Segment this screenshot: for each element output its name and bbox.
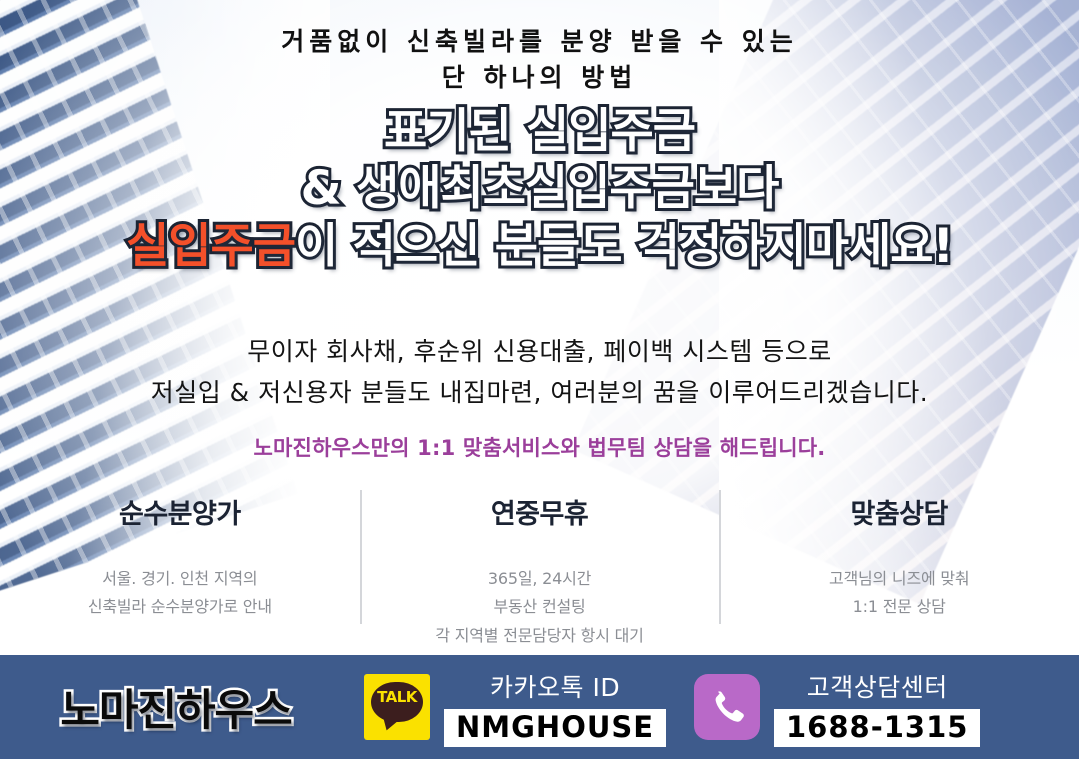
kakao-contact-block[interactable]: TALK 카카오톡 ID NMGHOUSE (352, 668, 672, 747)
feature-column-pure-price: 순수분양가 서울. 경기. 인천 지역의 신축빌라 순수분양가로 안내 (0, 486, 360, 636)
kakaotalk-icon[interactable]: TALK (364, 674, 430, 740)
hero-line-3-rest: 이 적으신 분들도 걱정하지마세요! (295, 219, 953, 274)
feature-description: 고객님의 니즈에 맞춰 1:1 전문 상담 (719, 565, 1079, 622)
feature-title: 순수분양가 (0, 492, 360, 531)
promo-banner: 거품없이 신축빌라를 분양 받을 수 있는 단 하나의 방법 표기된 실입주금 … (0, 0, 1079, 759)
kakao-id-value[interactable]: NMGHOUSE (444, 709, 666, 747)
kakao-text-column: 카카오톡 ID NMGHOUSE (444, 668, 666, 747)
contact-footer: 노마진하우스 TALK 카카오톡 ID NMGHOUSE 고객상담센터 1688… (0, 655, 1079, 759)
hero-line-2: & 생애최초실입주금보다 (0, 160, 1079, 217)
feature-desc-line: 1:1 전문 상담 (719, 593, 1079, 621)
hero-line-1: 표기된 실입주금 (0, 103, 1079, 160)
feature-desc-line: 고객님의 니즈에 맞춰 (719, 565, 1079, 593)
body-line-1: 무이자 회사채, 후순위 신용대출, 페이백 시스템 등으로 (0, 332, 1079, 373)
feature-description: 서울. 경기. 인천 지역의 신축빌라 순수분양가로 안내 (0, 565, 360, 622)
kicker-line-2: 단 하나의 방법 (0, 60, 1079, 96)
feature-columns: 순수분양가 서울. 경기. 인천 지역의 신축빌라 순수분양가로 안내 연중무휴… (0, 486, 1079, 636)
accent-copy: 노마진하우스만의 1:1 맞춤서비스와 법무팀 상담을 해드립니다. (0, 432, 1079, 462)
feature-desc-line: 365일, 24시간 (360, 565, 720, 593)
phone-text-column: 고객상담센터 1688-1315 (774, 668, 980, 747)
kakao-talk-label: TALK (364, 688, 430, 706)
hero-line-3: 실입주금이 적으신 분들도 걱정하지마세요! (0, 218, 1079, 275)
feature-column-custom-consult: 맞춤상담 고객님의 니즈에 맞춰 1:1 전문 상담 (719, 486, 1079, 636)
feature-title: 맞춤상담 (719, 492, 1079, 531)
hero-headline: 표기된 실입주금 & 생애최초실입주금보다 실입주금이 적으신 분들도 걱정하지… (0, 103, 1079, 275)
feature-column-open-all-year: 연중무휴 365일, 24시간 부동산 컨설팅 각 지역별 전문담당자 항시 대… (360, 486, 720, 636)
feature-desc-line: 부동산 컨설팅 (360, 593, 720, 621)
feature-desc-line: 서울. 경기. 인천 지역의 (0, 565, 360, 593)
kicker-line-1: 거품없이 신축빌라를 분양 받을 수 있는 (0, 24, 1079, 60)
kakao-id-label: 카카오톡 ID (444, 668, 666, 704)
customer-center-label: 고객상담센터 (774, 668, 980, 704)
feature-desc-line: 각 지역별 전문담당자 항시 대기 (360, 622, 720, 650)
customer-center-number[interactable]: 1688-1315 (774, 709, 980, 747)
body-line-2: 저실입 & 저신용자 분들도 내집마련, 여러분의 꿈을 이루어드리겠습니다. (0, 373, 1079, 414)
kicker-headline: 거품없이 신축빌라를 분양 받을 수 있는 단 하나의 방법 (0, 24, 1079, 95)
banner-content: 거품없이 신축빌라를 분양 받을 수 있는 단 하나의 방법 표기된 실입주금 … (0, 0, 1079, 655)
brand-name: 노마진하우스 (0, 676, 352, 738)
body-copy: 무이자 회사채, 후순위 신용대출, 페이백 시스템 등으로 저실입 & 저신용… (0, 332, 1079, 413)
feature-desc-line: 신축빌라 순수분양가로 안내 (0, 593, 360, 621)
feature-title: 연중무휴 (360, 492, 720, 531)
phone-icon[interactable] (694, 674, 760, 740)
hero-highlight-word: 실입주금 (126, 219, 295, 274)
feature-description: 365일, 24시간 부동산 컨설팅 각 지역별 전문담당자 항시 대기 (360, 565, 720, 650)
phone-contact-block[interactable]: 고객상담센터 1688-1315 (672, 668, 1062, 747)
